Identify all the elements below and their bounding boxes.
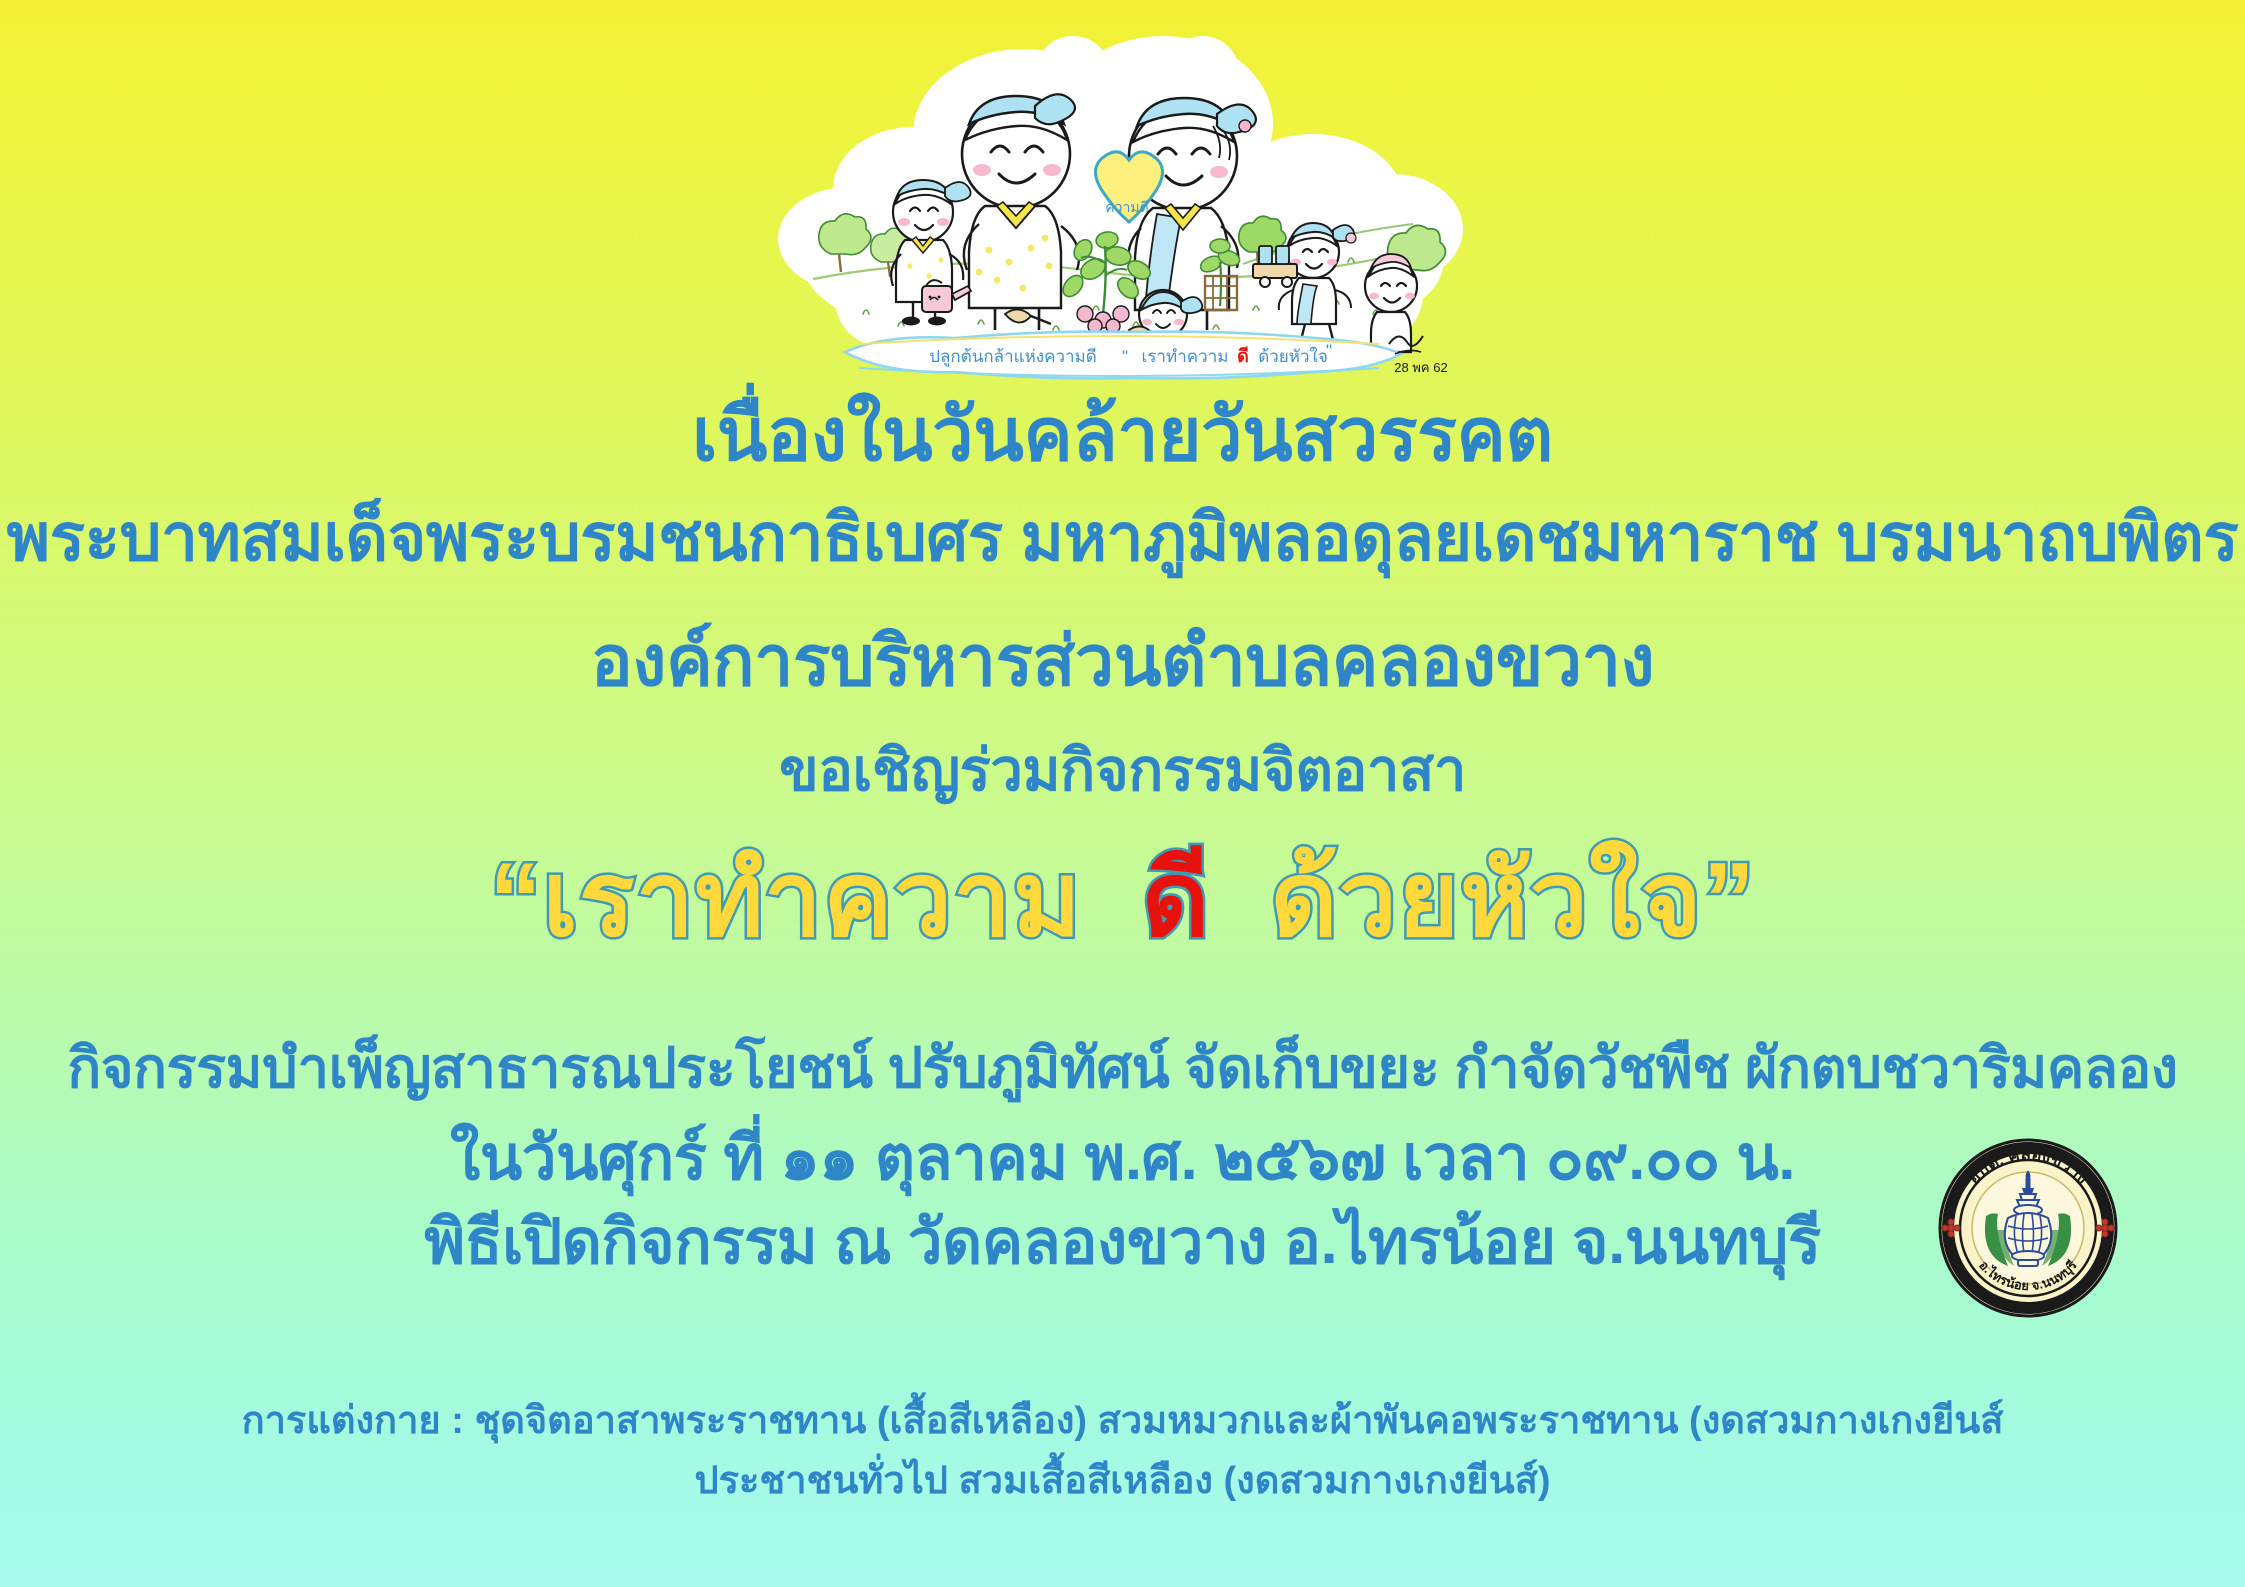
slogan-quote-open: “ (489, 842, 542, 958)
caption-quote-open: " (1121, 347, 1127, 366)
event-datetime: ในวันศุกร์ ที่ ๑๑ ตุลาคม พ.ศ. ๒๕๖๗ เวลา … (0, 1128, 2245, 1190)
slogan-we-do-good-with-our-hearts: “เราทำความ ดี ด้วยหัวใจ” (0, 848, 2245, 952)
caption-part-2: เราทำความ (1141, 347, 1228, 366)
volunteers-planting-illustration: ความดี (773, 14, 1473, 386)
dress-code-line-2: ประชาชนทั่วไป สวมเสื้อสีเหลือง (งดสวมกาง… (0, 1462, 2245, 1500)
headline-line-3: องค์การบริหารส่วนตำบลคลองขวาง (0, 626, 2245, 696)
headline-line-1: เนื่องในวันคล้ายวันสวรรคต (0, 398, 2245, 472)
องค์การบริหารส่วนตำบลคลองขวาง-seal: อบต. คลองขวาง อ.ไทรน้อย จ.นนทบุรี (1938, 1138, 2118, 1318)
slogan-quote-close: ” (1703, 842, 1756, 958)
poster-canvas: ความดี (0, 0, 2245, 1587)
illustration-caption: ปลูกต้นกล้าแห่งความดี " เราทำความ ดี ด้ว… (845, 332, 1401, 379)
character-child-right (1365, 254, 1417, 352)
heart-label: ความดี (1105, 199, 1148, 215)
caption-part-3: ด้วยหัวใจ (1258, 346, 1328, 366)
slogan-highlight-dee: ดี (1142, 842, 1211, 958)
headline-line-4: ขอเชิญร่วมกิจกรรมจิตอาสา (0, 742, 2245, 800)
event-venue: พิธีเปิดกิจกรรม ณ วัดคลองขวาง อ.ไทรน้อย … (0, 1212, 2245, 1274)
slogan-part-1: เราทำความ (542, 842, 1082, 958)
dress-code-line-1: การแต่งกาย : ชุดจิตอาสาพระราชทาน (เสื้อส… (0, 1402, 2245, 1440)
caption-part-1: ปลูกต้นกล้าแห่งความดี (929, 347, 1097, 367)
caption-quote-close: " (1325, 341, 1331, 360)
signature-date: 28 พค 62 (1394, 360, 1447, 375)
activity-description: กิจกรรมบำเพ็ญสาธารณประโยชน์ ปรับภูมิทัศน… (0, 1040, 2245, 1096)
headline-line-2: พระบาทสมเด็จพระบรมชนกาธิเบศร มหาภูมิพลอด… (0, 504, 2245, 570)
caption-highlight: ดี (1237, 346, 1249, 366)
slogan-part-2: ด้วยหัวใจ (1270, 842, 1703, 958)
